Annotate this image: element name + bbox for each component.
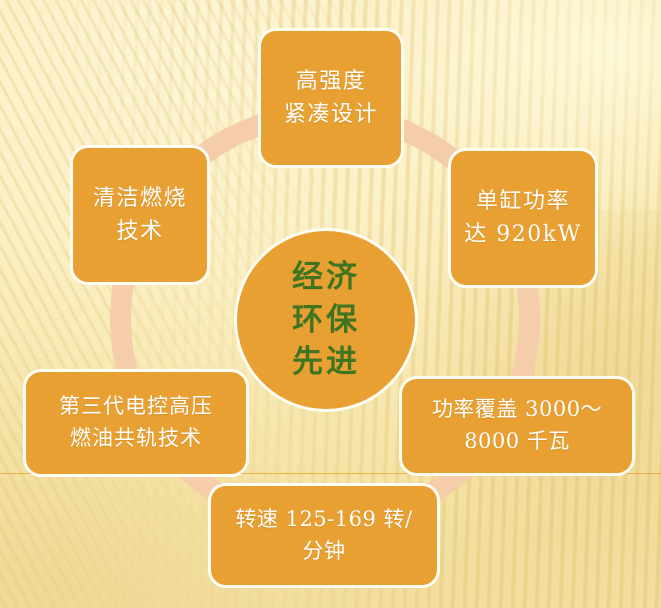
node-line: 燃油共轨技术: [70, 423, 202, 455]
node-box-bottom-left[interactable]: 第三代电控高压 燃油共轨技术: [23, 369, 249, 477]
node-box-right[interactable]: 单缸功率 达 920kW: [448, 148, 598, 288]
node-line: 清洁燃烧: [93, 182, 187, 215]
center-line: 先进: [292, 341, 360, 384]
node-line: 8000 千瓦: [464, 426, 570, 458]
node-box-bottom-right[interactable]: 功率覆盖 3000～ 8000 千瓦: [399, 376, 635, 476]
node-line: 紧凑设计: [284, 98, 378, 131]
node-box-left[interactable]: 清洁燃烧 技术: [70, 145, 210, 285]
node-line: 分钟: [303, 536, 346, 568]
center-line: 经济: [292, 256, 360, 299]
node-line: 高强度: [296, 65, 367, 98]
node-box-bottom[interactable]: 转速 125-169 转/ 分钟: [208, 483, 440, 588]
node-line: 技术: [116, 215, 163, 248]
node-line: 单缸功率: [476, 185, 570, 218]
node-box-top[interactable]: 高强度 紧凑设计: [258, 28, 404, 168]
slide-canvas: 高强度 紧凑设计 清洁燃烧 技术 单缸功率 达 920kW 第三代电控高压 燃油…: [0, 0, 661, 608]
node-line: 达 920kW: [464, 218, 581, 251]
node-line: 转速 125-169 转/: [235, 504, 412, 536]
node-line: 第三代电控高压: [59, 391, 213, 423]
center-line: 环保: [292, 299, 360, 342]
center-circle-node[interactable]: 经济 环保 先进: [234, 228, 418, 412]
node-line: 功率覆盖 3000～: [432, 394, 602, 426]
